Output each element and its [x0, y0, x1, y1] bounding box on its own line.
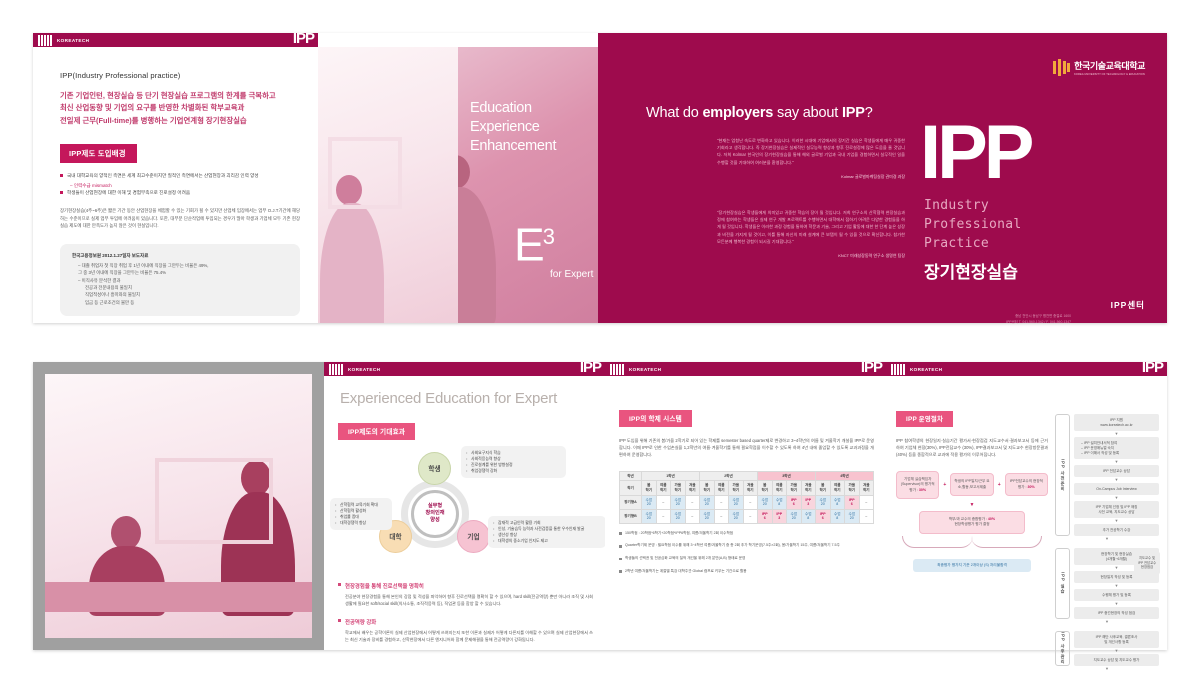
table-cell: IPP6 — [787, 495, 802, 509]
question-bold: employers — [702, 105, 773, 121]
table-term-header: 가을학기 — [671, 481, 686, 495]
table-row: 장기형A수업20–수업20–수업20–수업20–수업20수업8IPP6IPP3수… — [620, 495, 874, 509]
table-cell: 수업8 — [801, 509, 816, 523]
plus-icon: + — [943, 482, 946, 488]
press-release-line: 그 중 3년 이내에 직장을 그만두는 비율은 75.4% — [72, 269, 288, 276]
table-cell: 수업20 — [758, 495, 773, 509]
list-subitem: – 인력수급 mismatch — [60, 182, 300, 190]
process-step: IPP 지원www.koreatech.ac.kr — [1074, 414, 1159, 431]
quote-text: "장기현장실습은 학생들에게 의미있고 귀중한 학습의 장이 될 것입니다. 저… — [717, 210, 905, 244]
process-stage: IPP 사전준비IPP 지원www.koreatech.ac.kr▼– IPP … — [1055, 414, 1159, 536]
cover-headline-line: Experience — [470, 118, 556, 137]
lead-line: 전일제 근무(Full-time)를 병행하는 기업연계형 장기현장실습 — [60, 115, 300, 127]
flow-weight: 30% — [1028, 485, 1035, 489]
page-title: IPP(Industry Professional practice) — [60, 71, 300, 80]
subsection-heading: 전공역량 강화 — [338, 618, 593, 626]
ipp-wordmark: IPP — [580, 360, 601, 376]
row-label: 장기형B — [620, 509, 642, 523]
table-cell: – — [714, 509, 729, 523]
process-step: – IPP 설치안내서적 참여– IPP 운영매뉴얼 숙지– IPP 이해서 작… — [1074, 437, 1159, 459]
table-cell: 수업20 — [729, 495, 744, 509]
ipp-center-label: IPP센터 — [1111, 299, 1145, 311]
process-step: On-Campus Job Interview — [1074, 483, 1159, 495]
list-item: 국내 대학교육의 양적인 측면은 세계 최고수준이지만 질적인 측면에서는 산업… — [60, 172, 300, 180]
table-term-header: 가을학기 — [845, 481, 860, 495]
academic-system-table: 학년1학년2학년3학년4학년학기봄학기여름학기가을학기겨울학기봄학기여름학기가을… — [619, 471, 874, 524]
table-term-header: 겨울학기 — [801, 481, 816, 495]
cover-panel: Education Experience Enhancement E3 for … — [458, 47, 598, 323]
question-bold: IPP — [842, 105, 865, 121]
core-line: 창의인재 — [425, 510, 444, 517]
quote-source: KNCT 미래성장동력 연구소 생명연 팀장 — [717, 252, 905, 259]
lead-paragraph: 기존 기업인턴, 현장실습 등 단기 현장실습 프로그램의 한계를 극복하고 최… — [60, 90, 300, 127]
table-term-header: 여름학기 — [714, 481, 729, 495]
table-cell: – — [859, 495, 874, 509]
university-logo: 한국기술교육대학교 KOREA UNIVERSITY OF TECHNOLOGY… — [1053, 59, 1145, 76]
table-cell: – — [685, 509, 700, 523]
cover-photo-left — [318, 47, 458, 323]
table-cell: 수업20 — [671, 509, 686, 523]
press-release-subitem: 직업적성이나 흥미와의 불일치 — [72, 291, 288, 298]
table-cell: 수업20 — [642, 509, 657, 523]
ipp-wordmark: IPP — [861, 360, 882, 376]
table-term-header: 겨울학기 — [743, 481, 758, 495]
down-arrow-icon: ▼ — [1055, 536, 1159, 542]
table-cell: – — [685, 495, 700, 509]
process-step: 수행체 평가 및 등록 — [1074, 589, 1159, 601]
flow-subtext: 현장학생평가 평가 결정 — [923, 522, 1021, 527]
koreatech-wordmark: KOREATECH — [629, 367, 661, 372]
stage-label: IPP 사후관리 — [1055, 631, 1070, 666]
stage-steps: IPP 해단 사후교육, 결론조사및 개선사항 등록▼지도교수 상담 및 지도교… — [1074, 631, 1159, 666]
process-step: IPP 기업체 선정 및 IPP 매칭사전 교육, 지도교수 상담 — [1074, 501, 1159, 518]
cycle-node-company: 기업 — [457, 520, 490, 553]
university-name-en: KOREA UNIVERSITY OF TECHNOLOGY & EDUCATI… — [1074, 73, 1145, 76]
panel-tag: IPP의 학제 시스템 — [619, 410, 692, 427]
table-cell: – — [656, 495, 671, 509]
table-cell: – — [743, 509, 758, 523]
ipp-korean-title: 장기현장실습 — [924, 258, 1018, 283]
down-arrow-icon: ▼ — [896, 502, 1048, 508]
table-cell: IPP6 — [845, 495, 860, 509]
process-step: 추가 전공학기 수강 — [1074, 524, 1159, 536]
system-intro: IPP 도입을 위해 기존의 봄/가을 2학기로 되어 있는 학제를 semes… — [619, 437, 874, 459]
table-corner-term: 학기 — [620, 481, 642, 495]
table-cell: – — [743, 495, 758, 509]
koreatech-wordmark: KOREATECH — [348, 367, 380, 372]
table-cell: 수업20 — [845, 509, 860, 523]
table-term-header: 여름학기 — [830, 481, 845, 495]
brochure-canvas: KOREATECH IPP IPP(Industry Professional … — [0, 0, 1200, 684]
stage-label: IPP 실습 — [1055, 548, 1070, 619]
panel-tag: IPP제도의 기대효과 — [338, 423, 415, 440]
flow-box: 학생의 IPP일지/근무 요소,활동,보고서제출 — [950, 473, 993, 496]
section-heading: Experienced Education for Expert — [340, 390, 593, 407]
lead-line: 기존 기업인턴, 현장실습 등 단기 현장실습 프로그램의 한계를 극복하고 — [60, 90, 300, 102]
university-name: 한국기술교육대학교 — [1074, 59, 1145, 72]
cycle-bubble-university: 산학협력 교육기회 확대 산학협력 활성화 취업률 증대 대학경쟁력 향상 — [330, 498, 392, 530]
table-term-header: 봄학기 — [758, 481, 773, 495]
process-step: IPP 전담교수 상담 — [1074, 465, 1159, 477]
flow-box: 기업체 실습책임자(Supervisor)의 평가적 평가 : 30% — [896, 471, 939, 499]
ipp-wordmark: IPP — [293, 31, 314, 47]
testimonial-quote: "장기현장실습은 학생들에게 의미있고 귀중한 학습의 장이 될 것입니다. 저… — [717, 209, 905, 259]
bubble-item: 대학생의 중소기업 인지도 제고 — [493, 538, 601, 544]
koreatech-header-bar: KOREATECH IPP — [324, 362, 605, 376]
cycle-node-student: 학생 — [418, 452, 451, 485]
process-stage: IPP 실습현장학기 및 현장실습(4개월~6개월)▼현장일지 작성 및 등록▼… — [1055, 548, 1159, 619]
question-part: say about — [773, 105, 842, 121]
ipp-expansion-line: Practice — [924, 234, 1022, 253]
table-note: 150학점 : 20학점*6학기+20학점*IPP6학점, 여름/겨울학기 2회… — [619, 531, 874, 537]
flow-box: IPP전담교수의 현장적 평가 : 30% — [1005, 473, 1048, 496]
cycle-bubble-student: 사회요구지식 학습 사회적응능력 향상 진로설계를 위한 방향설정 취업경쟁력 … — [461, 446, 566, 478]
section-tag-background: IPP제도 도입배경 — [60, 144, 137, 163]
address-line: IPP센터 T. 041-560-1342 / F. 041-560-1347 — [851, 320, 1071, 326]
bubble-item: 대학경쟁력 향상 — [335, 520, 387, 526]
flow-weight: 30% — [919, 488, 926, 492]
list-item: 학생들이 산업현장에 대한 이해 및 경험부족으로 진로설정 어려움 — [60, 189, 300, 197]
question-part: What do — [646, 105, 702, 121]
table-cell: IPP6 — [816, 509, 831, 523]
table-cell: 수업20 — [787, 509, 802, 523]
process-chart-column: IPP 사전준비IPP 지원www.koreatech.ac.kr▼– IPP … — [1055, 408, 1159, 672]
stripe-logo-icon — [329, 364, 343, 375]
table-year-header: 1학년 — [642, 471, 700, 481]
e3-logo: E3 — [514, 217, 553, 264]
quote-source: Kolmar 글로벌마케팅실장 권미경 과장 — [717, 173, 905, 180]
table-cell: – — [714, 495, 729, 509]
table-term-header: 봄학기 — [700, 481, 715, 495]
flow-result-box: 최종평가 평가지 기준 2개이상 (S) 처리불합격 — [913, 559, 1031, 572]
table-cell: 수업20 — [642, 495, 657, 509]
stripe-logo-icon — [891, 364, 905, 375]
down-arrow-icon: ▼ — [1055, 666, 1159, 672]
table-term-header: 여름학기 — [656, 481, 671, 495]
press-release-line: – 이직사유 분석한 결과 — [72, 277, 288, 284]
table-row: 장기형B수업20–수업20–수업20–수업20–IPP6IPP3수업20수업8I… — [620, 509, 874, 523]
table-note: 학생들의 선택권 및 전공심화 교육의 질적 개선을 위해 2개 분반(A,B)… — [619, 556, 874, 562]
process-stage: IPP 사후관리IPP 해단 사후교육, 결론조사및 개선사항 등록▼지도교수 … — [1055, 631, 1159, 666]
core-line: 실무형 — [425, 503, 444, 510]
core-line: 양성 — [425, 517, 444, 524]
e3-exponent: 3 — [543, 224, 553, 249]
process-intro: IPP 참여학생의 현장일지·실습기간 평가서·현장점검 지도교수서·결과보고서… — [896, 437, 1048, 459]
table-term-header: 겨울학기 — [859, 481, 874, 495]
table-cell: IPP3 — [801, 495, 816, 509]
table-note: Quarter학기제 운영 : 필요학점 이수를 위해 3~4학년 여름/겨울학… — [619, 543, 874, 549]
table-term-header: 여름학기 — [772, 481, 787, 495]
press-release-line: – 대졸 취업자 첫 직장 취업 후 1년 이내에 직장을 그만두는 비율은 4… — [72, 262, 288, 269]
panel-operation-process: KOREATECH IPP IPP 운영절차 IPP 참여학생의 현장일지·실습… — [886, 362, 1167, 650]
background-bullet-list: 국내 대학교육의 양적인 측면은 세계 최고수준이지만 질적인 측면에서는 산업… — [60, 172, 300, 197]
employers-question: What do employers say about IPP? — [646, 105, 873, 121]
table-year-header: 4학년 — [816, 471, 874, 481]
table-cell: IPP3 — [772, 509, 787, 523]
process-step: 지도교수 상담 및 지도교수 평가 — [1074, 654, 1159, 666]
press-release-subitem: 전공과 전문내용의 불일치 — [72, 284, 288, 291]
testimonial-quote: "현재는 엄청난 속도로 변화하고 있습니다. 이러한 시대에 기업에서의 장기… — [717, 137, 905, 180]
address-block: 충남 천안시 동남구 병천면 충절로 1600 IPP센터 T. 041-560… — [851, 314, 1071, 325]
table-term-header: 겨울학기 — [685, 481, 700, 495]
down-arrow-icon: ▼ — [1055, 619, 1159, 625]
table-term-header: 가을학기 — [787, 481, 802, 495]
table-note: 2학년 여름/겨울학기는 계절별 특강 대학주관 Global 캠프로 키우는 … — [619, 569, 874, 575]
cycle-bubble-company: 잠재적 고급인력 활용 기회 인성, 기술습득 능력과 사전검증을 통한 우수인… — [488, 516, 606, 548]
koreatech-symbol-icon — [1053, 59, 1070, 76]
row-label: 장기형A — [620, 495, 642, 509]
top-spread: KOREATECH IPP IPP(Industry Professional … — [33, 33, 1167, 323]
panel-3-content: IPP 운영절차 IPP 참여학생의 현장일지·실습기간 평가서·현장점검 지도… — [896, 408, 1159, 672]
koreatech-header-bar: KOREATECH IPP — [33, 33, 318, 47]
process-side-note: 지도교수 및 IPP 전담교수 현장점검 — [1134, 552, 1160, 574]
panel-expected-effects: KOREATECH IPP Experienced Education for … — [324, 362, 605, 650]
bottom-spread: KOREATECH IPP Experienced Education for … — [33, 362, 1167, 650]
table-term-header: 가을학기 — [729, 481, 744, 495]
subsection-body: 전공분야 현장경험을 통해 본인의 강점 및 적성을 파악하여 향후 진로선택을… — [338, 593, 593, 607]
panel-2-content: IPP의 학제 시스템 IPP 도입을 위해 기존의 봄/가을 2학기로 되어 … — [619, 408, 874, 574]
e3-letter: E — [514, 218, 543, 270]
flow-text: IPP전담교수의 현장적 평가 : — [1010, 479, 1043, 488]
flow-text: 기업체 실습책임자(Supervisor)의 평가적 평가 : — [901, 477, 935, 492]
panel-1-content: Experienced Education for Expert IPP제도의 … — [338, 384, 593, 643]
table-year-header: 3학년 — [758, 471, 816, 481]
cycle-diagram: 학생 대학 기업 실무형 창의인재 양성 사회요구지식 학습 사회적응능력 향상… — [338, 446, 593, 571]
table-cell: – — [656, 509, 671, 523]
evaluation-flow-top: 기업체 실습책임자(Supervisor)의 평가적 평가 : 30% + 학생… — [896, 471, 1048, 499]
press-release-title: 한국고용정보원 2012.1.27일자 보도자료 — [72, 253, 288, 259]
quote-text: "현재는 엄청난 속도로 변화하고 있습니다. 이러한 시대에 기업에서의 장기… — [717, 138, 905, 165]
stripe-logo-icon — [610, 364, 624, 375]
panel-academic-system: KOREATECH IPP IPP의 학제 시스템 IPP 도입을 위해 기존의… — [605, 362, 886, 650]
cover-headline: Education Experience Enhancement — [470, 99, 556, 156]
flow-arc-connector — [896, 534, 1048, 550]
top-left-page: KOREATECH IPP IPP(Industry Professional … — [33, 33, 318, 323]
panel-tag: IPP 운영절차 — [896, 411, 953, 427]
bottom-photo-panel — [33, 362, 324, 650]
for-expert-label: for Expert — [550, 269, 593, 280]
background-paragraph: 장기현장실습(4주~6주)은 짧은 기간 동안 산업현장을 체험할 수 있는 기… — [60, 207, 300, 230]
table-cell: 수업20 — [700, 509, 715, 523]
top-left-content: IPP(Industry Professional practice) 기존 기… — [60, 71, 300, 316]
question-part: ? — [865, 105, 873, 121]
process-step: IPP 해단 사후교육, 결론조사및 개선사항 등록 — [1074, 631, 1159, 648]
table-cell: 수업20 — [671, 495, 686, 509]
koreatech-header-bar: KOREATECH IPP — [886, 362, 1167, 376]
koreatech-wordmark: KOREATECH — [910, 367, 942, 372]
cover-headline-line: Enhancement — [470, 137, 556, 156]
bubble-item: 취업경쟁력 강화 — [466, 468, 561, 474]
top-right-page: 한국기술교육대학교 KOREA UNIVERSITY OF TECHNOLOGY… — [598, 33, 1167, 323]
stripe-logo-icon — [38, 35, 52, 46]
lead-line: 최신 산업동향 및 기업의 요구를 반영한 차별화된 학부교육과 — [60, 102, 300, 114]
ipp-expansion: Industry Professional Practice — [924, 196, 1022, 253]
flow-weight: 40% — [988, 517, 995, 521]
koreatech-wordmark: KOREATECH — [57, 38, 89, 43]
table-cell: 수업20 — [700, 495, 715, 509]
table-cell: IPP6 — [758, 509, 773, 523]
plus-icon: + — [998, 482, 1001, 488]
stage-label: IPP 사전준비 — [1055, 414, 1070, 536]
ipp-expansion-line: Professional — [924, 215, 1022, 234]
koreatech-header-bar: KOREATECH IPP — [605, 362, 886, 376]
ipp-wordmark: IPP — [1142, 360, 1163, 376]
ipp-big-mark: IPP — [920, 118, 1031, 188]
subsection-heading: 현장경험을 통해 진로선택을 명확히 — [338, 582, 593, 590]
table-term-header: 봄학기 — [642, 481, 657, 495]
table-corner-year: 학년 — [620, 471, 642, 481]
flow-box-final: 학부/과 교수의 종합평가 : 40% 현장학생평가 평가 결정 — [919, 511, 1025, 534]
table-cell: 수업20 — [816, 495, 831, 509]
table-cell: 수업8 — [830, 509, 845, 523]
ipp-expansion-line: Industry — [924, 196, 1022, 215]
table-cell: 수업8 — [830, 495, 845, 509]
meeting-photo — [45, 374, 312, 638]
process-step: IPP 중간현장의 작성 점검 — [1074, 607, 1159, 619]
table-cell: 수업8 — [772, 495, 787, 509]
flow-text: 학부/과 교수의 종합평가 : — [949, 517, 988, 521]
subsection-body: 학교에서 배우는 공학이론이 실제 산업현장에서 어떻게 쓰여지는지 또한 이론… — [338, 629, 593, 643]
process-left-column: IPP 운영절차 IPP 참여학생의 현장일지·실습기간 평가서·현장점검 지도… — [896, 408, 1048, 672]
flow-text: 학생의 IPP일지/근무 요소,활동,보고서제출 — [954, 479, 989, 488]
cover-headline-line: Education — [470, 99, 556, 118]
stage-steps: IPP 지원www.koreatech.ac.kr▼– IPP 설치안내서적 참… — [1074, 414, 1159, 536]
table-cell: 수업20 — [729, 509, 744, 523]
table-term-header: 봄학기 — [816, 481, 831, 495]
stage-steps: 현장학기 및 현장실습(4개월~6개월)▼현장일지 작성 및 등록▼수행체 평가… — [1074, 548, 1159, 619]
press-release-subitem: 임금 등 근로조건의 불만 등 — [72, 299, 288, 306]
press-release-box: 한국고용정보원 2012.1.27일자 보도자료 – 대졸 취업자 첫 직장 취… — [60, 244, 300, 316]
cycle-core-label: 실무형 창의인재 양성 — [411, 490, 459, 538]
table-cell: – — [859, 509, 874, 523]
table-year-header: 2학년 — [700, 471, 758, 481]
